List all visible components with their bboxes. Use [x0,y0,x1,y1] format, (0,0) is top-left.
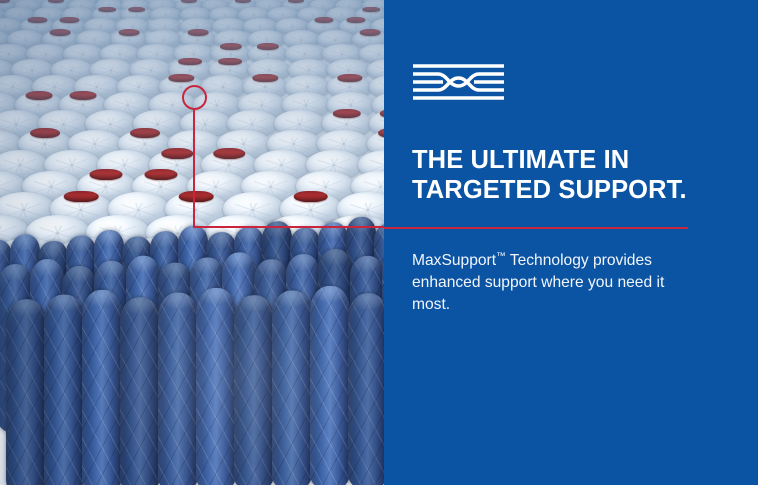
navy-pocketed-coil [82,290,122,485]
content-panel: THE ULTIMATE IN TARGETED SUPPORT. MaxSup… [384,0,758,485]
body-copy: MaxSupport™ Technology provides enhanced… [412,250,698,316]
headline-line-2: TARGETED SUPPORT. [412,176,732,206]
navy-pocketed-coil [234,295,274,485]
navy-pocketed-coil [348,293,384,485]
page-title: THE ULTIMATE IN TARGETED SUPPORT. [412,146,732,206]
navy-pocketed-coil [272,290,312,485]
accent-divider [384,227,688,229]
navy-pocketed-coil [158,292,198,485]
navy-pocketed-coil [120,297,160,485]
navy-pocketed-coil [196,288,236,485]
mattress-coil-photo [0,0,384,485]
navy-pocketed-coil [310,286,350,485]
navy-coil-row [6,282,384,485]
headline-line-1: THE ULTIMATE IN [412,146,732,176]
promo-banner: THE ULTIMATE IN TARGETED SUPPORT. MaxSup… [0,0,758,485]
navy-pocketed-coil [6,299,46,485]
body-copy-brand: MaxSupport [412,252,496,269]
navy-coil-front-rows [0,191,384,485]
trademark-symbol: ™ [496,251,506,262]
wave-lines-logo-icon [412,62,505,102]
navy-pocketed-coil [44,294,84,485]
